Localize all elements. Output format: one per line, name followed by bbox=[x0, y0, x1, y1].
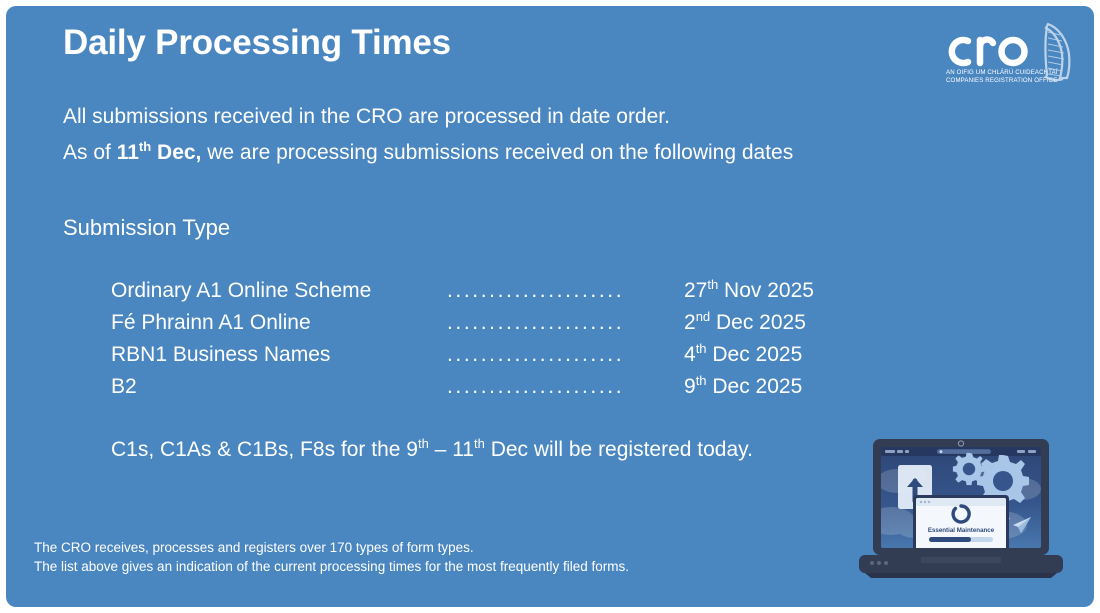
intro-line-1: All submissions received in the CRO are … bbox=[63, 105, 670, 129]
row-date-number: 2 bbox=[684, 311, 696, 334]
cro-logo: AN OIFIG UM CHLÁRÚ CUIDEACHTAÍ COMPANIES… bbox=[939, 12, 1079, 88]
row-date-rest: Dec 2025 bbox=[707, 343, 803, 366]
table-row: Fé Phrainn A1 Online ...................… bbox=[111, 311, 871, 343]
row-submission-type: B2 bbox=[111, 375, 137, 399]
footer-line-2: The list above gives an indication of th… bbox=[34, 557, 629, 576]
row-submission-type: RBN1 Business Names bbox=[111, 343, 330, 367]
row-date-number: 27 bbox=[684, 279, 707, 302]
row-dot-leader: ................................ bbox=[447, 343, 623, 367]
row-date-ordinal: th bbox=[707, 277, 718, 292]
row-date-rest: Dec 2025 bbox=[710, 311, 806, 334]
footer-line-1: The CRO receives, processes and register… bbox=[34, 538, 629, 557]
indicator-dots bbox=[870, 561, 888, 565]
page-title: Daily Processing Times bbox=[63, 23, 451, 63]
logo-line-english: COMPANIES REGISTRATION OFFICE bbox=[946, 77, 1057, 84]
row-date-number: 9 bbox=[684, 375, 696, 398]
row-date: 9th Dec 2025 bbox=[684, 375, 802, 399]
maintenance-screen-text: Essential Maintenance bbox=[928, 527, 995, 534]
row-submission-type: Ordinary A1 Online Scheme bbox=[111, 279, 371, 303]
row-dot-leader: ................................ bbox=[447, 375, 623, 399]
row-date-ordinal: nd bbox=[696, 309, 710, 324]
row-date-ordinal: th bbox=[696, 341, 707, 356]
row-submission-type: Fé Phrainn A1 Online bbox=[111, 311, 311, 335]
note-to-number: 11 bbox=[452, 438, 474, 461]
row-date-rest: Nov 2025 bbox=[718, 279, 814, 302]
note-from-ordinal: th bbox=[418, 436, 429, 451]
browser-address-bar bbox=[937, 449, 991, 454]
row-date-ordinal: th bbox=[696, 373, 707, 388]
row-date-number: 4 bbox=[684, 343, 696, 366]
submission-type-heading: Submission Type bbox=[63, 215, 230, 241]
info-panel: Daily Processing Times AN OIFIG UM CHLÁR… bbox=[6, 6, 1094, 607]
note-suffix: Dec will be registered today. bbox=[485, 438, 753, 461]
intro-line-2: As of 11th Dec, we are processing submis… bbox=[63, 141, 793, 165]
row-date: 2nd Dec 2025 bbox=[684, 311, 806, 335]
table-row: RBN1 Business Names ....................… bbox=[111, 343, 871, 375]
table-row: B2 ................................ 9th … bbox=[111, 375, 871, 407]
table-row: Ordinary A1 Online Scheme ..............… bbox=[111, 279, 871, 311]
intro-date-month: Dec, bbox=[151, 141, 201, 164]
maintenance-monitor: Essential Maintenance bbox=[913, 495, 1009, 555]
processing-dates-list: Ordinary A1 Online Scheme ..............… bbox=[111, 279, 871, 407]
note-from-number: 9 bbox=[406, 438, 418, 461]
intro-suffix: we are processing submissions received o… bbox=[201, 141, 793, 164]
note-to-ordinal: th bbox=[474, 436, 485, 451]
row-dot-leader: ................................ bbox=[447, 311, 623, 335]
intro-date-ordinal: th bbox=[139, 139, 151, 154]
trackpad bbox=[921, 557, 1001, 563]
logo-line-irish: AN OIFIG UM CHLÁRÚ CUIDEACHTAÍ bbox=[946, 69, 1058, 76]
row-date: 4th Dec 2025 bbox=[684, 343, 802, 367]
note-prefix: C1s, C1As & C1Bs, F8s for the bbox=[111, 438, 406, 461]
registration-note: C1s, C1As & C1Bs, F8s for the 9th – 11th… bbox=[111, 438, 753, 462]
footer-note: The CRO receives, processes and register… bbox=[34, 538, 629, 576]
intro-date-number: 11 bbox=[117, 141, 139, 164]
progress-bar-fill bbox=[929, 537, 971, 542]
row-date-rest: Dec 2025 bbox=[707, 375, 803, 398]
note-separator: – bbox=[429, 438, 452, 461]
slide-canvas: Daily Processing Times AN OIFIG UM CHLÁR… bbox=[0, 0, 1100, 613]
intro-prefix: As of bbox=[63, 141, 117, 164]
row-date: 27th Nov 2025 bbox=[684, 279, 814, 303]
laptop-illustration: Essential Maintenance bbox=[851, 429, 1071, 581]
row-dot-leader: ................................ bbox=[447, 279, 623, 303]
laptop-foot bbox=[865, 573, 1057, 578]
